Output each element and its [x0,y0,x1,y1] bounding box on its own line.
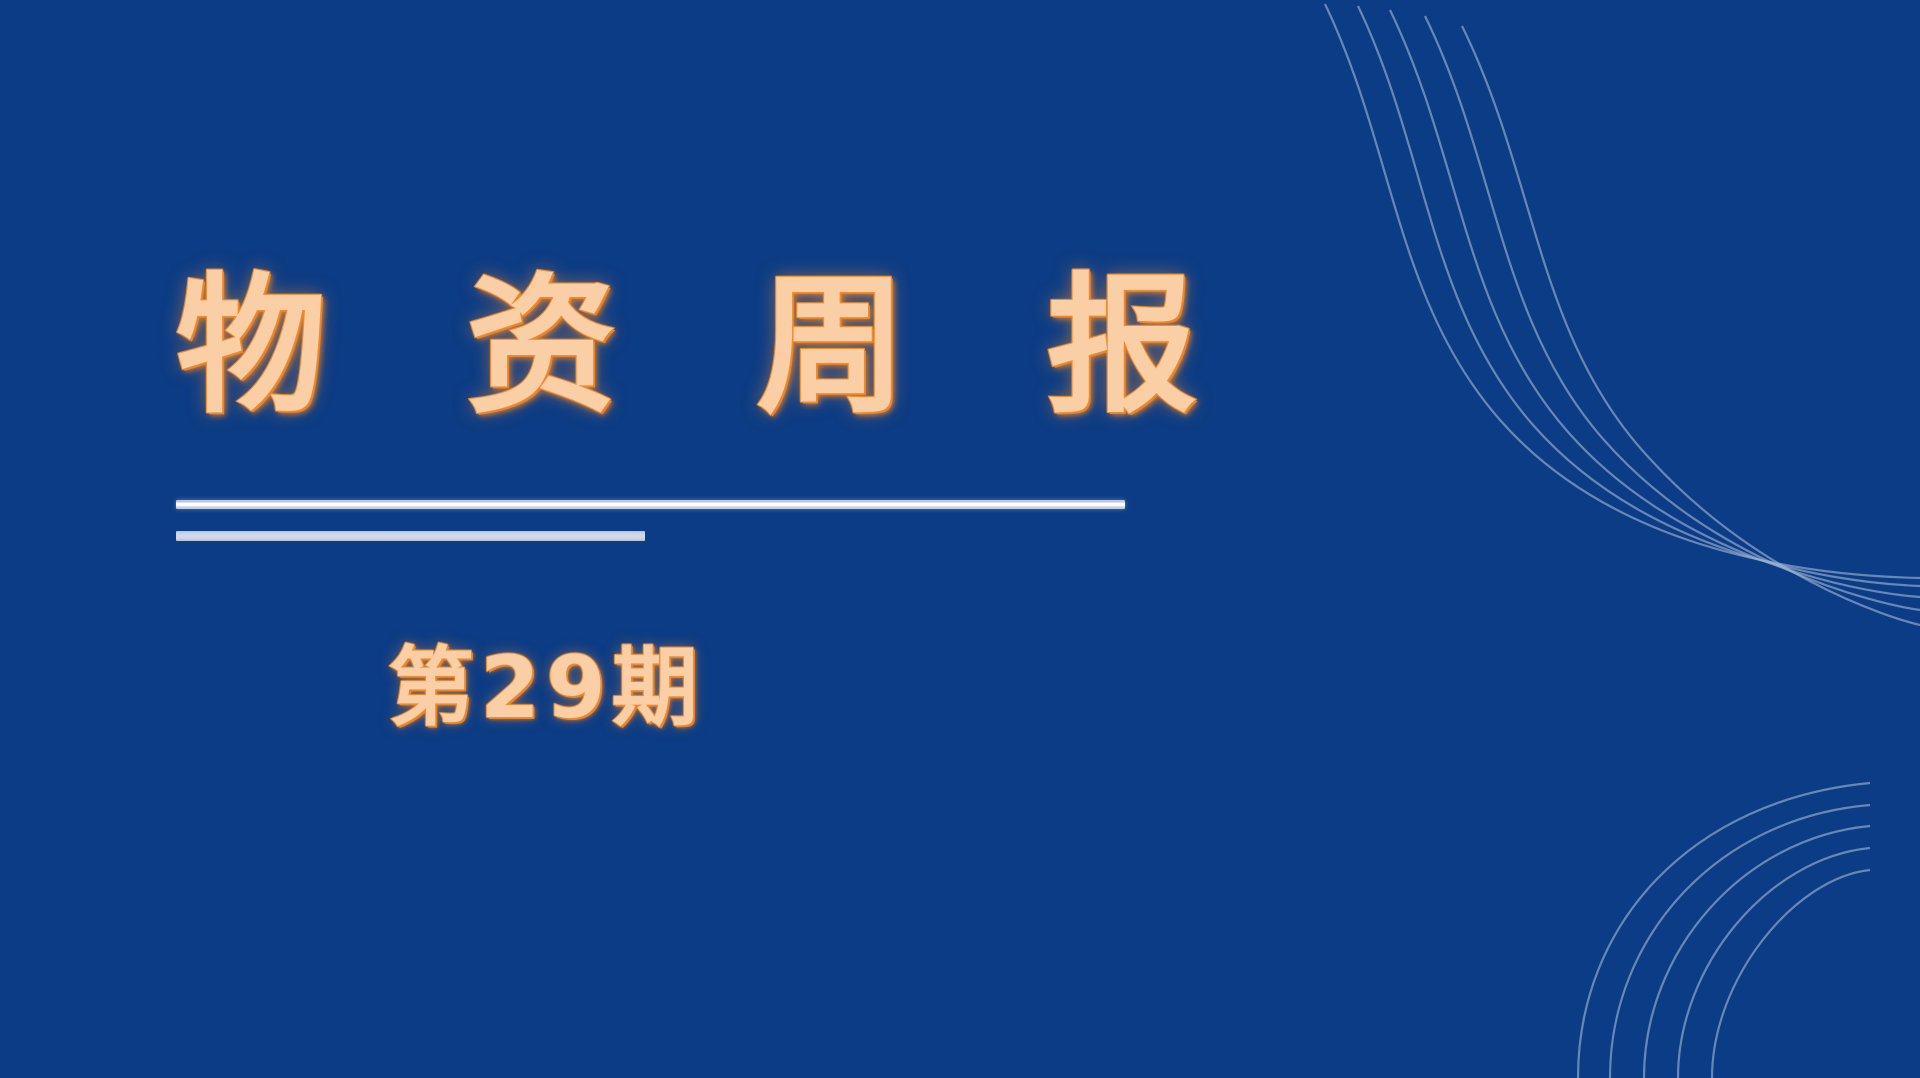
bottom-right-curve-1 [1578,783,1870,1078]
title-underline-secondary [176,531,645,541]
bottom-right-curve-4 [1678,848,1870,1078]
top-right-curve-3 [1390,10,1920,597]
page-title: 物 资 周 报 [176,272,1176,422]
bottom-right-curve-group [1578,783,1870,1078]
title-underline-primary [176,500,1125,509]
top-right-curve-1 [1325,4,1920,578]
bottom-right-curve-3 [1644,826,1870,1078]
top-right-curve-4 [1425,16,1920,610]
title-block: 物 资 周 报 [176,272,1176,422]
issue-subtitle: 第29期 [0,645,1092,731]
top-right-curve-group [1325,4,1920,625]
bottom-right-curve-2 [1610,805,1870,1078]
bottom-right-curve-5 [1712,870,1870,1078]
top-right-curve-2 [1358,6,1920,586]
cover-slide: 物 资 周 报 第29期 [0,0,1920,1078]
top-right-curve-5 [1462,26,1920,625]
